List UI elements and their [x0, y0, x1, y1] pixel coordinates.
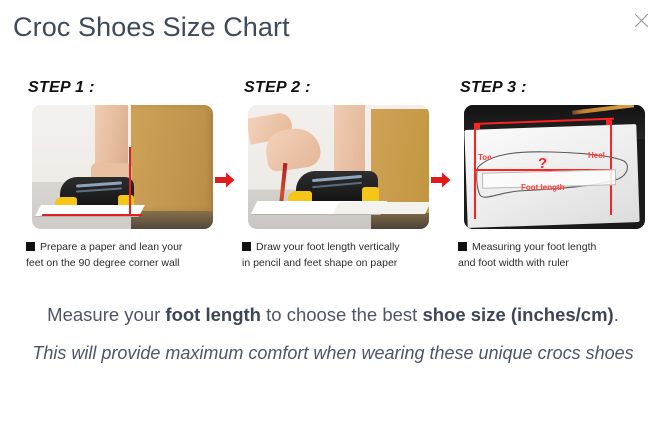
bullet-square-icon [242, 242, 251, 251]
footer-text-part-2: to choose the best [261, 304, 422, 325]
photo3-red-vertical-toe-line [474, 125, 476, 219]
step-caption-1-line1: Prepare a paper and lean your [40, 241, 182, 253]
footer-text-part-1: Measure your [47, 304, 165, 325]
photo2-paper-right [333, 202, 429, 214]
bullet-square-icon [26, 242, 35, 251]
photo3-red-corner-marker-left [474, 123, 480, 129]
footer-bold-shoe-size: shoe size (inches/cm) [422, 304, 613, 325]
step-caption-2-line1: Draw your foot length vertically [256, 241, 400, 253]
photo3-foot-length-label: Foot length [521, 183, 565, 192]
footer-line-2: This will provide maximum comfort when w… [0, 338, 666, 368]
footer-text: Measure your foot length to choose the b… [0, 300, 666, 368]
footer-text-part-3: . [614, 304, 619, 325]
step-label-3: STEP 3 : [460, 78, 644, 98]
step-caption-3-line1: Measuring your foot length [472, 241, 596, 253]
step-photo-2 [248, 105, 429, 229]
step-caption-1-line2: feet on the 90 degree corner wall [26, 257, 180, 269]
step-caption-2-line2: in pencil and feet shape on paper [242, 257, 397, 269]
footer-bold-foot-length: foot length [165, 304, 261, 325]
photo3-heel-label: Heel [588, 151, 605, 160]
arrow-gap-1 [212, 78, 238, 293]
photo3-toe-label: Toe [478, 153, 492, 162]
step-panel-2: STEP 2 : Draw your foot length verticall… [238, 78, 428, 271]
step-label-1: STEP 1 : [28, 78, 212, 98]
photo3-question-mark: ? [538, 155, 547, 172]
photo1-red-wall-line [129, 147, 131, 215]
footer-line-1: Measure your foot length to choose the b… [0, 300, 666, 330]
modal-header: Croc Shoes Size Chart [0, 0, 666, 62]
arrow-gap-2 [428, 78, 454, 293]
photo3-red-corner-marker-right [606, 119, 612, 125]
step-label-2: STEP 2 : [244, 78, 428, 98]
photo1-cardboard-box [131, 105, 213, 211]
photo2-cardboard-box [371, 109, 429, 213]
step-caption-2: Draw your foot length vertically in penc… [242, 239, 428, 271]
photo2-box-reflection [371, 213, 429, 229]
step-caption-3-line2: and foot width with ruler [458, 257, 569, 269]
steps-row: STEP 1 : Prepare a paper and lean your f… [22, 78, 644, 293]
arrow-right-icon [215, 172, 235, 193]
bullet-square-icon [458, 242, 467, 251]
photo2-leg [334, 105, 365, 177]
arrow-right-icon [431, 172, 451, 193]
photo1-red-guide-line [41, 214, 142, 216]
photo3-red-vertical-heel-line [610, 121, 612, 215]
close-icon [634, 13, 649, 28]
step-photo-3: Toe Heel ? Foot length [464, 105, 645, 229]
close-button[interactable] [628, 7, 654, 33]
step-panel-1: STEP 1 : Prepare a paper and lean your f… [22, 78, 212, 271]
step-photo-1 [32, 105, 213, 229]
step-panel-3: STEP 3 : Toe Heel ? Foot length Measurin… [454, 78, 644, 271]
step-caption-3: Measuring your foot length and foot widt… [458, 239, 644, 271]
step-caption-1: Prepare a paper and lean your feet on th… [26, 239, 212, 271]
photo1-box-reflection [131, 211, 213, 229]
page-title: Croc Shoes Size Chart [13, 12, 290, 43]
